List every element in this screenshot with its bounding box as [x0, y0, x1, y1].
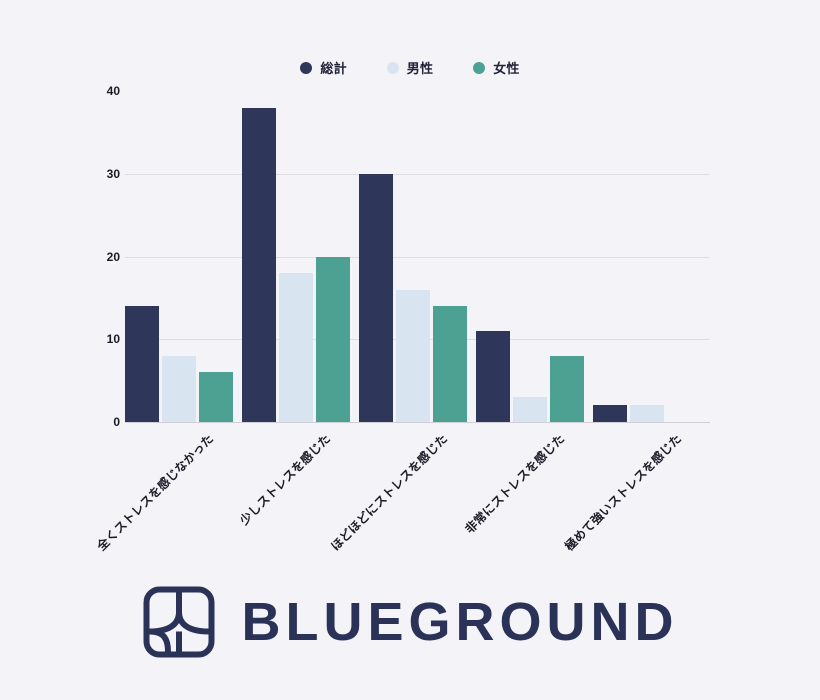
- brand-wordmark: BLUEGROUND: [242, 595, 679, 649]
- chart-page: 総計男性女性 010203040 全くストレスを感じなかった少しストレスを感じた…: [0, 0, 820, 700]
- y-axis-tick-label: 30: [107, 167, 120, 181]
- legend-dot-icon: [387, 62, 399, 74]
- legend-item-label: 総計: [320, 58, 346, 77]
- x-axis-category-label: ほどほどにストレスを感じた: [327, 430, 451, 554]
- bar-group: [359, 91, 467, 422]
- bar[interactable]: [199, 372, 233, 422]
- bar-group: [242, 91, 350, 422]
- bar[interactable]: [125, 306, 159, 422]
- x-axis-labels: 全くストレスを感じなかった少しストレスを感じたほどほどにストレスを感じた非常にス…: [125, 422, 710, 572]
- legend-dot-icon: [300, 62, 312, 74]
- bar[interactable]: [476, 331, 510, 422]
- y-axis-ticks: 010203040: [88, 91, 120, 422]
- bar[interactable]: [359, 174, 393, 422]
- bar[interactable]: [242, 108, 276, 422]
- x-axis-category-label: 少しストレスを感じた: [236, 430, 334, 528]
- legend-item-1[interactable]: 総計: [300, 58, 346, 77]
- bar[interactable]: [593, 405, 627, 422]
- bar-group: [593, 91, 701, 422]
- legend-item-label: 男性: [407, 58, 433, 77]
- legend-dot-icon: [473, 62, 485, 74]
- bar[interactable]: [433, 306, 467, 422]
- bar[interactable]: [162, 356, 196, 422]
- y-axis-tick-label: 0: [113, 415, 120, 429]
- chart-legend: 総計男性女性: [0, 58, 820, 77]
- legend-item-3[interactable]: 女性: [473, 58, 519, 77]
- x-axis-category-label: 全くストレスを感じなかった: [93, 430, 217, 554]
- bar-group: [476, 91, 584, 422]
- bar[interactable]: [630, 405, 664, 422]
- brand-footer: BLUEGROUND: [0, 585, 820, 659]
- y-axis-tick-label: 40: [107, 84, 120, 98]
- x-axis-category-label: 極めて強いストレスを感じた: [561, 430, 685, 554]
- y-axis-tick-label: 10: [107, 332, 120, 346]
- plot-area: [125, 91, 710, 422]
- legend-item-label: 女性: [493, 58, 519, 77]
- bar[interactable]: [316, 257, 350, 423]
- y-axis-tick-label: 20: [107, 250, 120, 264]
- legend-item-2[interactable]: 男性: [387, 58, 433, 77]
- bar-group: [125, 91, 233, 422]
- bar[interactable]: [550, 356, 584, 422]
- blueground-square-mark-icon: [142, 585, 216, 659]
- x-axis-category-label: 非常にストレスを感じた: [461, 430, 568, 537]
- bar[interactable]: [279, 273, 313, 422]
- bar[interactable]: [513, 397, 547, 422]
- bar[interactable]: [396, 290, 430, 422]
